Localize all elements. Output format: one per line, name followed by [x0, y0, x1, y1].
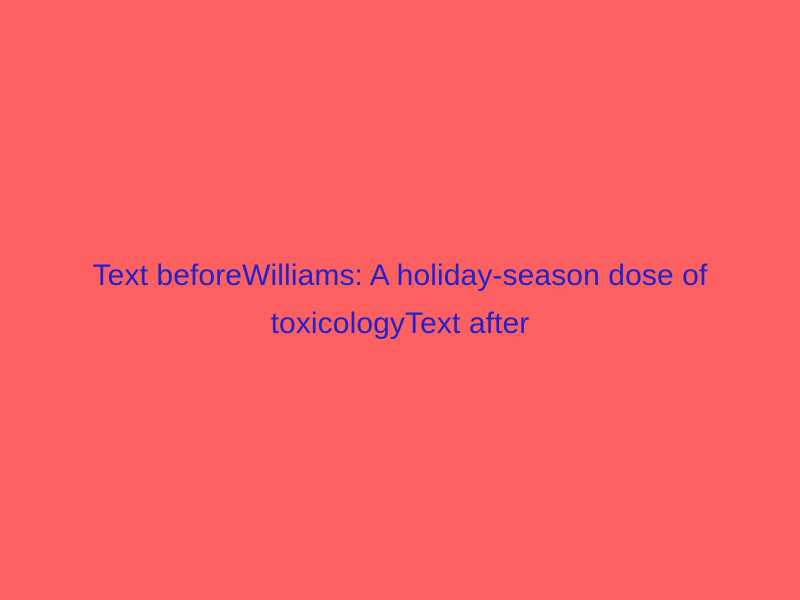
text-before-label: Text before — [93, 259, 243, 292]
page-root: Text beforeWilliams: A holiday-season do… — [0, 0, 800, 600]
page-headline: Text beforeWilliams: A holiday-season do… — [30, 252, 770, 348]
content-container: Text beforeWilliams: A holiday-season do… — [0, 0, 800, 600]
text-after-label: Text after — [405, 307, 529, 340]
